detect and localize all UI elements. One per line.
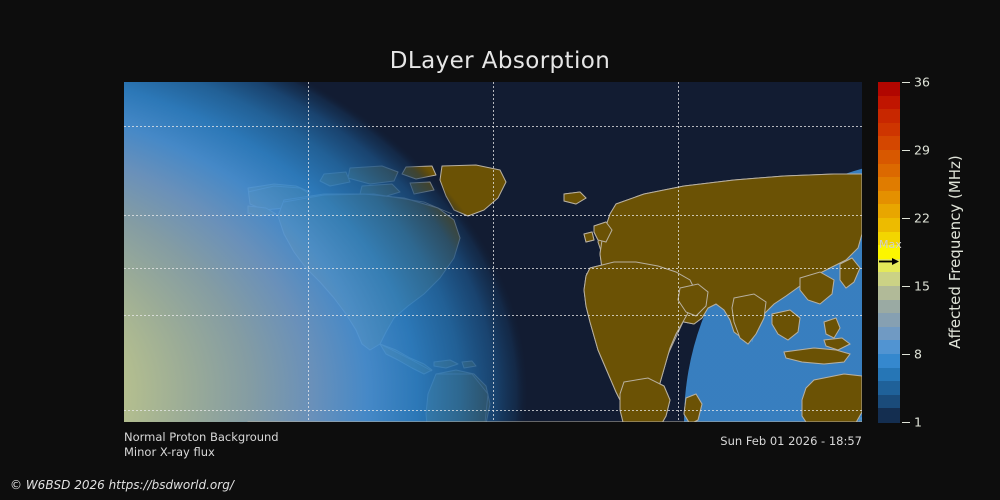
colorbar-tick-label-29: 29 (914, 143, 930, 158)
colorbar-tick-15 (902, 286, 910, 287)
colorbar-tick-8 (902, 354, 910, 355)
colorbar-tick-36 (902, 82, 910, 83)
world-map-graphic (124, 82, 862, 422)
world-map-panel (124, 82, 862, 422)
colorbar-tick-label-22: 22 (914, 211, 930, 226)
note-proton-background: Normal Proton Background (124, 430, 279, 444)
colorbar-axis-label-text: Affected Frequency (MHz) (946, 155, 964, 349)
colorbar-tick-1 (902, 422, 910, 423)
colorbar-tick-22 (902, 218, 910, 219)
colorbar: Max (878, 82, 900, 422)
colorbar-tick-label-15: 15 (914, 279, 930, 294)
colorbar-gradient (878, 82, 900, 422)
colorbar-tick-label-36: 36 (914, 75, 930, 90)
colorbar-tick-label-1: 1 (914, 415, 922, 430)
colorbar-tick-29 (902, 150, 910, 151)
page-title: DLayer Absorption (0, 48, 1000, 74)
colorbar-axis-label: Affected Frequency (MHz) (945, 82, 965, 422)
copyright-notice: © W6BSD 2026 https://bsdworld.org/ (10, 478, 234, 492)
timestamp: Sun Feb 01 2026 - 18:57 (720, 434, 862, 448)
colorbar-tick-label-8: 8 (914, 347, 922, 362)
note-xray-flux: Minor X-ray flux (124, 445, 215, 459)
